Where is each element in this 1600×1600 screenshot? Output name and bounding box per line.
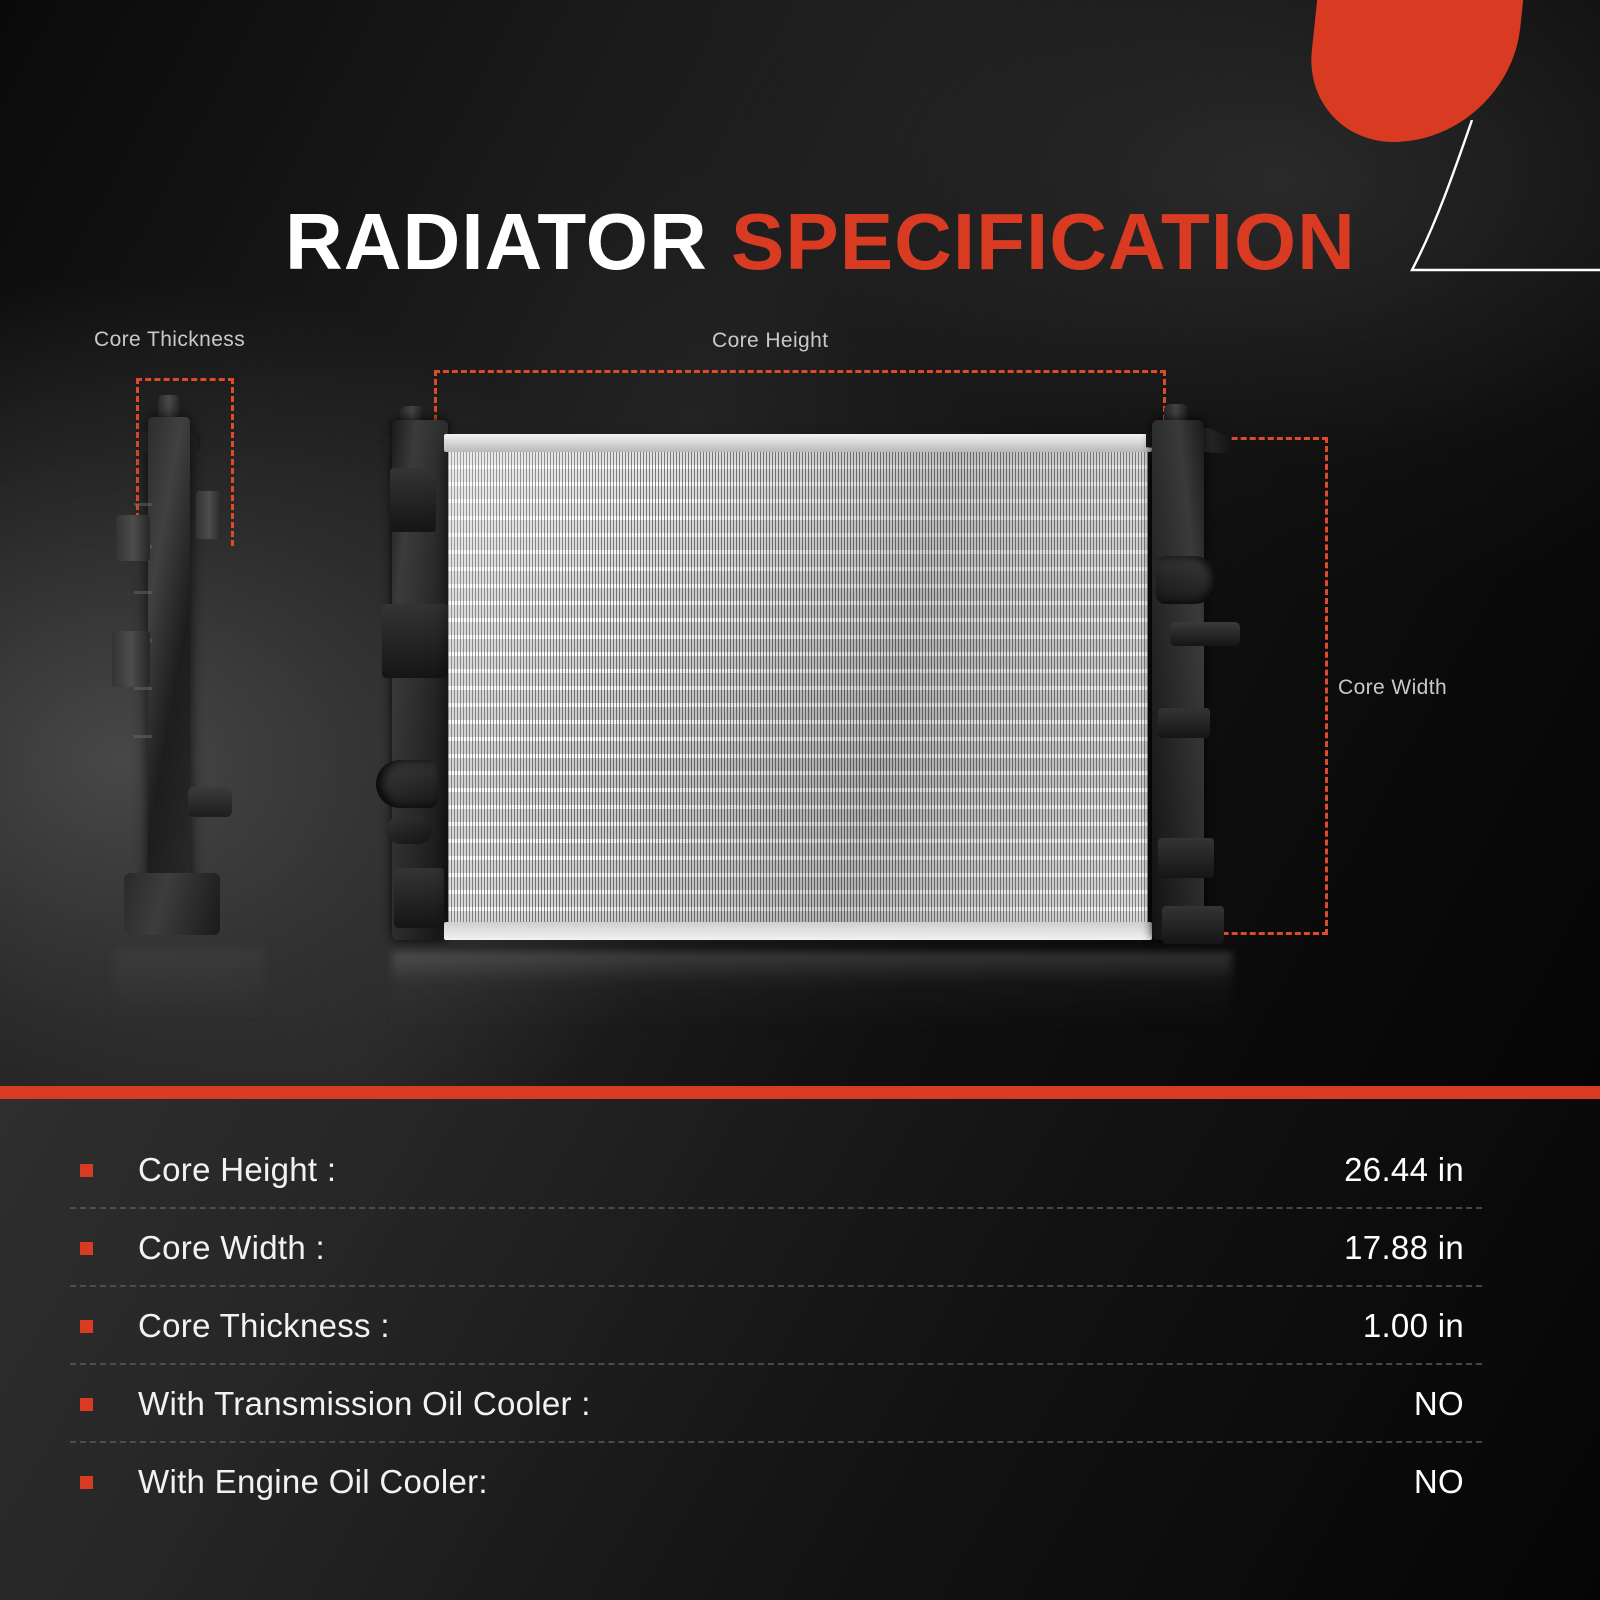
spec-label: Core Height : [138, 1151, 336, 1189]
side-fin [134, 591, 152, 594]
side-mounting-clip [116, 515, 150, 561]
core-lighting-overlay [448, 448, 1148, 926]
right-mounting-clip [1158, 838, 1214, 878]
side-outlet-hose [188, 787, 232, 817]
callout-label-core-width: Core Width [1338, 676, 1447, 700]
side-tank-body [148, 417, 190, 917]
left-mounting-clip [390, 468, 436, 532]
product-hero-section: RADIATOR SPECIFICATION Core Thickness Co… [0, 0, 1600, 1090]
left-inlet-hose [376, 760, 438, 808]
table-row: With Transmission Oil Cooler : NO [70, 1365, 1482, 1443]
page-title: RADIATOR SPECIFICATION [285, 202, 1356, 282]
side-fin [134, 735, 152, 738]
core-bottom-rail [444, 922, 1152, 940]
side-lower-bracket [124, 873, 220, 935]
right-mounting-clip [1158, 708, 1210, 738]
table-row: Core Thickness : 1.00 in [70, 1287, 1482, 1365]
left-lower-bracket [394, 868, 444, 928]
spec-value: 26.44 in [1344, 1151, 1482, 1189]
bullet-square-icon [80, 1476, 93, 1489]
bullet-square-icon [80, 1320, 93, 1333]
bullet-square-icon [80, 1398, 93, 1411]
side-mounting-clip [196, 491, 222, 539]
spec-value: NO [1414, 1463, 1482, 1501]
radiator-side-profile-image [110, 395, 270, 940]
bullet-square-icon [80, 1242, 93, 1255]
side-fin [134, 687, 152, 690]
callout-label-core-thickness: Core Thickness [94, 328, 245, 352]
section-divider [0, 1086, 1600, 1099]
table-row: With Engine Oil Cooler: NO [70, 1443, 1482, 1521]
side-fin [134, 503, 152, 506]
side-mounting-clip [112, 631, 150, 687]
radiator-specification-page: RADIATOR SPECIFICATION Core Thickness Co… [0, 0, 1600, 1600]
specification-list: Core Height : 26.44 in Core Width : 17.8… [70, 1131, 1482, 1521]
side-view-reflection [114, 948, 264, 1018]
page-title-part-two: SPECIFICATION [731, 197, 1356, 286]
radiator-reflection [392, 952, 1232, 1032]
spec-label: With Transmission Oil Cooler : [138, 1385, 591, 1423]
spec-label: Core Thickness : [138, 1307, 390, 1345]
white-curve-decoration-icon [1350, 120, 1600, 280]
spec-label: Core Width : [138, 1229, 325, 1267]
callout-label-core-height: Core Height [712, 329, 828, 353]
radiator-core [448, 448, 1148, 926]
right-outlet-hose [1156, 556, 1218, 604]
table-row: Core Width : 17.88 in [70, 1209, 1482, 1287]
spec-value: 1.00 in [1363, 1307, 1482, 1345]
core-top-rail [444, 434, 1152, 452]
right-lower-bracket [1162, 906, 1224, 944]
spec-value: NO [1414, 1385, 1482, 1423]
spec-value: 17.88 in [1344, 1229, 1482, 1267]
bullet-square-icon [80, 1164, 93, 1177]
radiator-front-view-image [370, 408, 1250, 953]
left-mounting-clip [382, 604, 448, 678]
table-row: Core Height : 26.44 in [70, 1131, 1482, 1209]
page-title-part-one: RADIATOR [285, 197, 708, 286]
left-drain-port [386, 816, 432, 844]
spec-label: With Engine Oil Cooler: [138, 1463, 488, 1501]
right-side-port [1170, 622, 1240, 646]
specification-table-section: Core Height : 26.44 in Core Width : 17.8… [0, 1099, 1600, 1600]
